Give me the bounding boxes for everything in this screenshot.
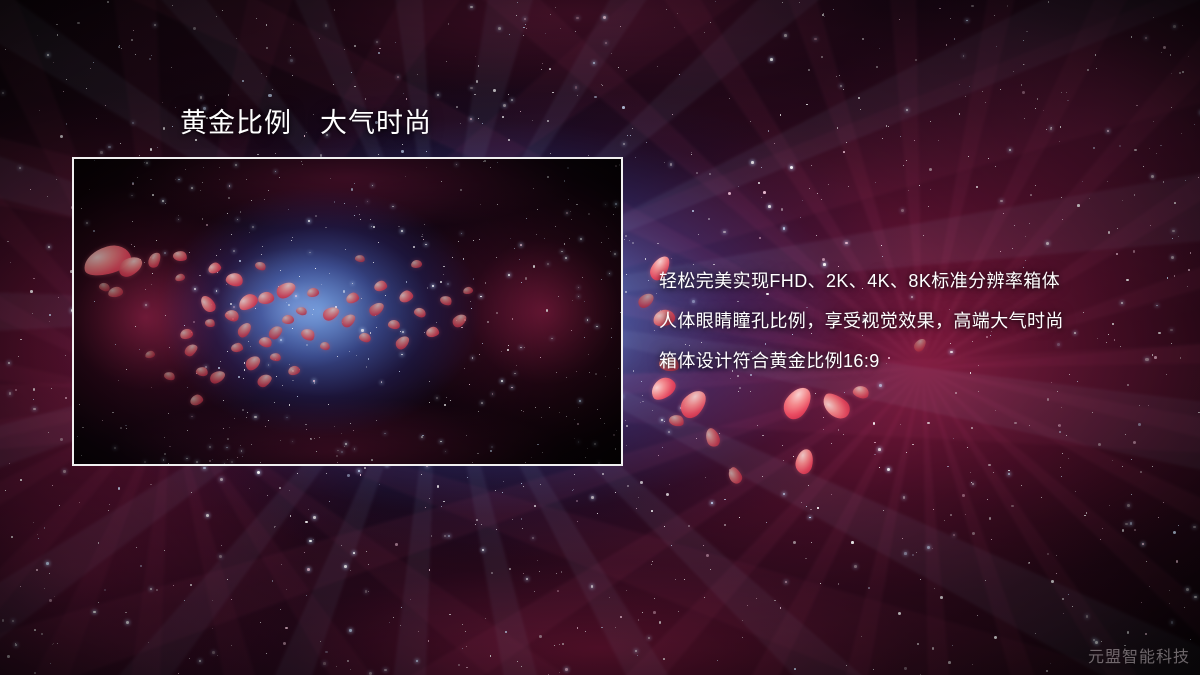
framed-image-vignette xyxy=(74,159,621,464)
presentation-slide: 黄金比例 大气时尚 轻松完美实现FHD、2K、4K、8K标准分辨率箱体 人体眼睛… xyxy=(0,0,1200,675)
rose-petal xyxy=(778,382,817,423)
rose-petal xyxy=(852,384,871,400)
framed-image-panel xyxy=(72,157,623,466)
rose-petal xyxy=(668,413,685,427)
body-line-2: 人体眼睛瞳孔比例，享受视觉效果，高端大气时尚 xyxy=(659,301,1159,341)
rose-petal xyxy=(636,290,657,310)
body-line-1: 轻松完美实现FHD、2K、4K、8K标准分辨率箱体 xyxy=(659,261,1159,301)
slide-title: 黄金比例 大气时尚 xyxy=(180,101,432,140)
body-line-3: 箱体设计符合黄金比例16:9 xyxy=(659,341,1159,381)
rose-petal xyxy=(793,447,816,475)
body-copy-block: 轻松完美实现FHD、2K、4K、8K标准分辨率箱体 人体眼睛瞳孔比例，享受视觉效… xyxy=(659,261,1159,381)
rose-petal xyxy=(702,426,721,448)
company-watermark: 元盟智能科技 xyxy=(1088,643,1190,667)
rose-petal xyxy=(726,465,745,486)
rose-petal xyxy=(818,389,854,423)
